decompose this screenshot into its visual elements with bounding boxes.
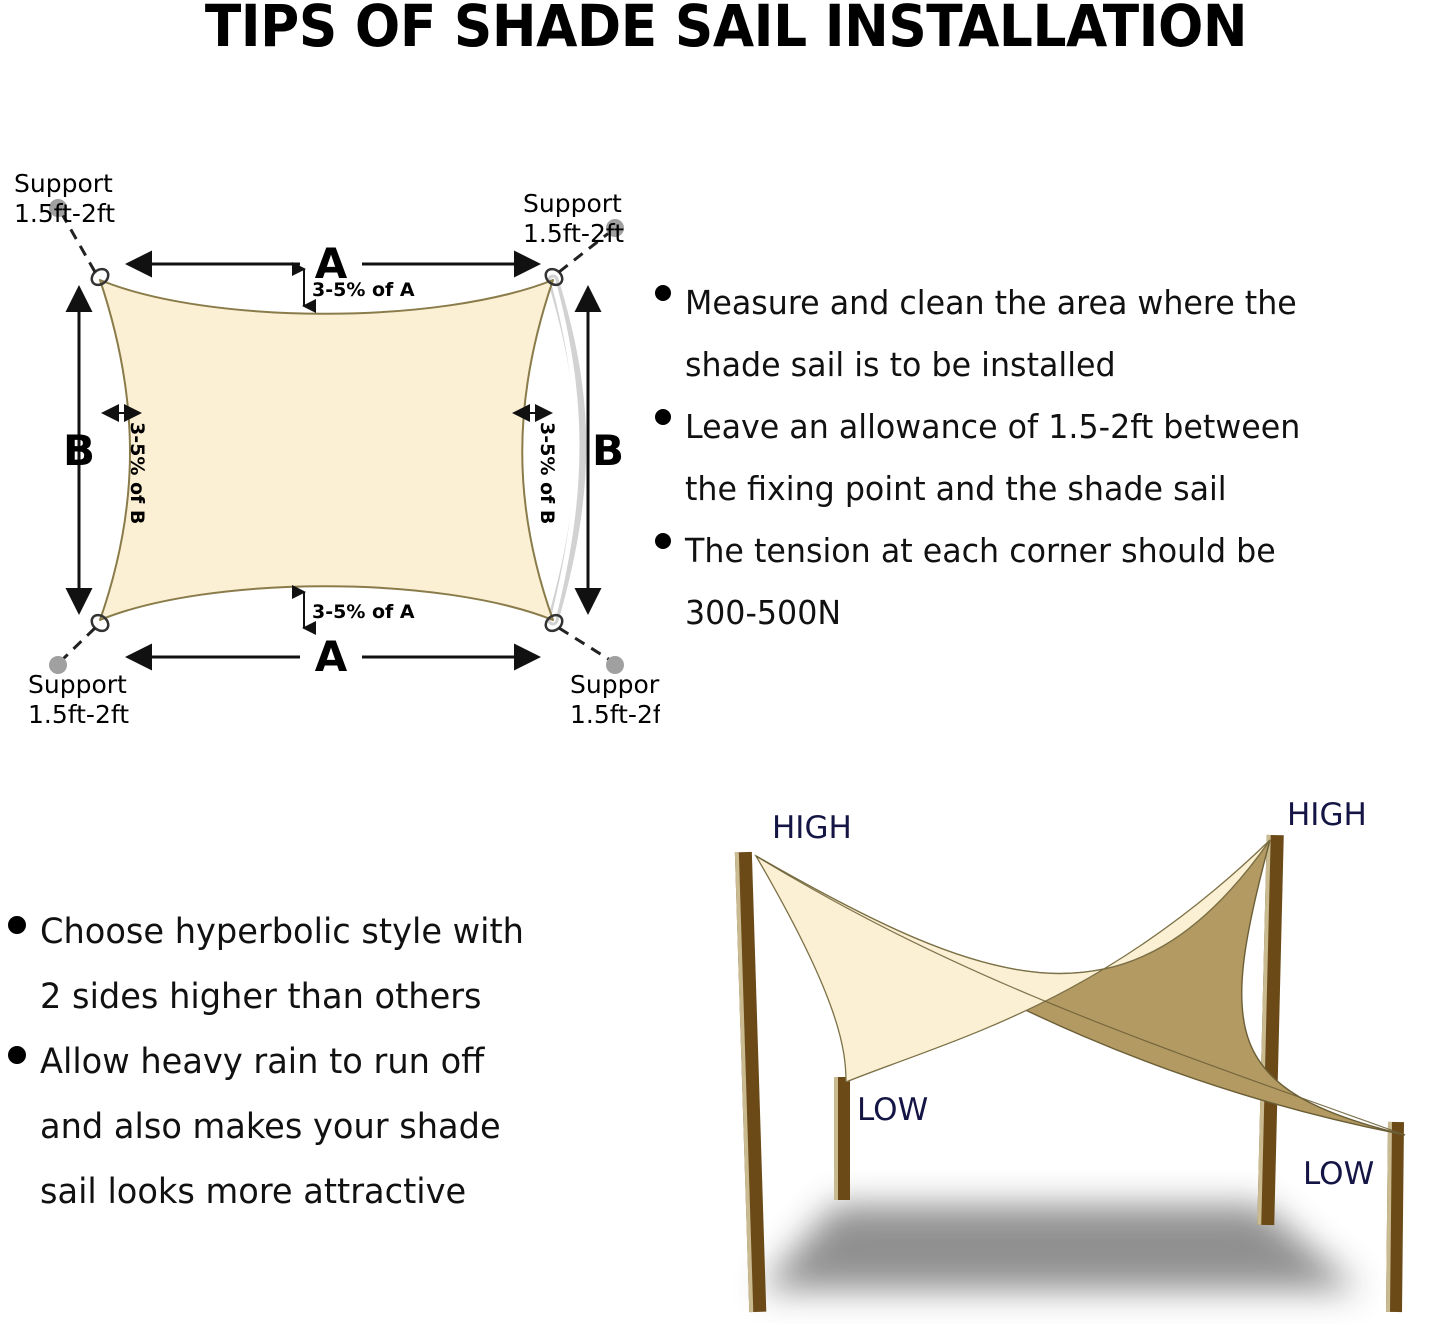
rectangular-sail-diagram: A A B B 3-5% of A 3-5% of A 3-5% of B 3-… <box>0 160 660 740</box>
curve-depth-label-top: 3-5% of A <box>312 279 415 301</box>
dimension-label-B-right: B <box>592 426 624 475</box>
label-high-left: HIGH <box>772 810 852 846</box>
bullet-dot-icon <box>655 533 671 549</box>
tips-list-bottom: Choose hyperbolic style with 2 sides hig… <box>8 900 638 1225</box>
dimension-label-A-bottom: A <box>315 632 348 681</box>
list-item: Measure and clean the area where the sha… <box>655 272 1452 396</box>
support-label-bottom-left-line2: 1.5ft-2ft <box>28 700 129 729</box>
support-label-top-left-line1: Support <box>14 169 113 198</box>
support-label-bottom-left-line1: Support <box>28 670 127 699</box>
bullet-dot-icon <box>8 1046 26 1064</box>
bullet-dot-icon <box>655 409 671 425</box>
label-high-right: HIGH <box>1287 797 1367 833</box>
label-low-left: LOW <box>857 1092 928 1128</box>
curve-depth-label-bottom: 3-5% of A <box>312 601 415 623</box>
support-label-top-left-line2: 1.5ft-2ft <box>14 199 115 228</box>
shade-sail-shape <box>100 280 553 620</box>
support-label-top-right-line2: 1.5ft-2ft <box>523 219 624 248</box>
list-item-text: Measure and clean the area where the sha… <box>685 272 1297 396</box>
post-high-right <box>1257 835 1284 1225</box>
dimension-label-B-left: B <box>63 426 95 475</box>
list-item-text: The tension at each corner should be 300… <box>685 520 1276 644</box>
support-label-bottom-right-line1: Support <box>570 670 660 699</box>
bullet-dot-icon <box>655 285 671 301</box>
list-item: Choose hyperbolic style with 2 sides hig… <box>8 900 638 1030</box>
support-label-top-right-line1: Support <box>523 189 622 218</box>
list-item-text: Choose hyperbolic style with 2 sides hig… <box>40 900 524 1030</box>
label-low-right: LOW <box>1303 1156 1374 1192</box>
page-root: TIPS OF SHADE SAIL INSTALLATION <box>0 0 1452 1325</box>
post-low-left-front <box>834 1082 850 1200</box>
bullet-dot-icon <box>8 916 26 934</box>
list-item-text: Leave an allowance of 1.5-2ft between th… <box>685 396 1300 520</box>
list-item: Leave an allowance of 1.5-2ft between th… <box>655 396 1452 520</box>
list-item: The tension at each corner should be 300… <box>655 520 1452 644</box>
support-label-bottom-right-line2: 1.5ft-2ft <box>570 700 660 729</box>
list-item-text: Allow heavy rain to run off and also mak… <box>40 1030 501 1225</box>
tips-list-top: Measure and clean the area where the sha… <box>655 272 1452 644</box>
post-high-left <box>735 852 766 1312</box>
page-title: TIPS OF SHADE SAIL INSTALLATION <box>58 0 1394 57</box>
curve-depth-label-right: 3-5% of B <box>536 422 558 524</box>
list-item: Allow heavy rain to run off and also mak… <box>8 1030 638 1225</box>
curve-depth-label-left: 3-5% of B <box>126 422 148 524</box>
hyperbolic-sail-diagram: HIGH HIGH LOW LOW <box>660 790 1452 1325</box>
post-low-right <box>1386 1122 1404 1312</box>
